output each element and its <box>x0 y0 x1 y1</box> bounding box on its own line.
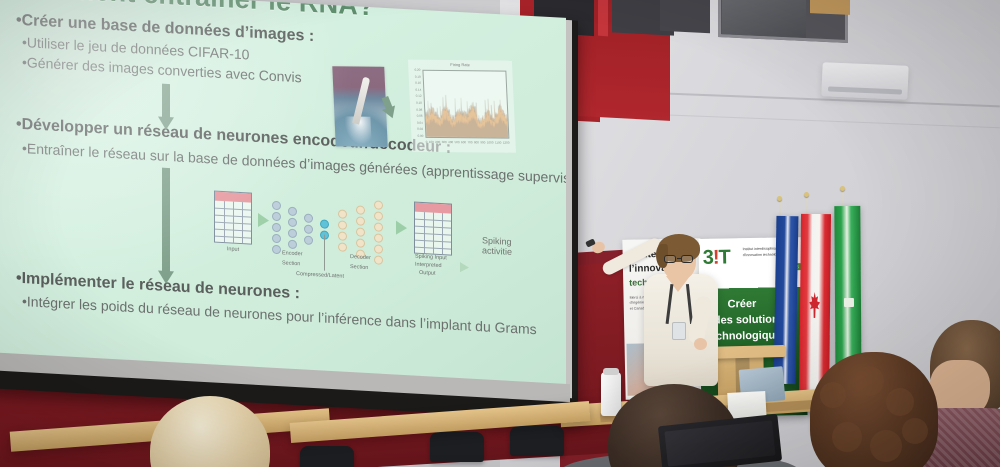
nn-node <box>356 216 365 225</box>
output-table-icon <box>414 202 452 256</box>
x-tick: 500 <box>454 140 459 148</box>
nn-node <box>272 233 281 242</box>
arrow-to-spiking <box>460 262 469 272</box>
y-tick: 0.14 <box>415 88 421 92</box>
encoder-label: Encoder <box>282 250 303 257</box>
nn-node <box>374 244 383 253</box>
y-tick: 0.04 <box>417 121 423 125</box>
y-tick: 0.08 <box>416 107 422 111</box>
nn-node <box>374 211 383 220</box>
thermos-bottle <box>601 372 621 416</box>
encoder-label2: Section <box>282 260 300 267</box>
nn-node <box>338 242 347 251</box>
nn-node <box>338 209 347 218</box>
arrow-decoder-to-output <box>396 221 407 236</box>
x-tick: 400 <box>448 140 453 148</box>
neural-network-nodes <box>214 185 514 202</box>
x-tick: 600 <box>461 140 466 148</box>
nn-node <box>288 229 297 238</box>
chart-x-axis-ticks: 0100200300400500600700800900100011001200 <box>426 140 510 149</box>
x-tick: 200 <box>435 140 440 148</box>
nn-node <box>356 238 365 247</box>
x-tick: 1200 <box>503 141 510 149</box>
nn-node <box>288 218 297 227</box>
output-label3: Output <box>419 270 436 277</box>
nn-node <box>272 211 281 220</box>
chair <box>510 426 564 456</box>
window-wood-panel <box>810 0 850 15</box>
x-tick: 1000 <box>487 140 494 148</box>
y-tick: 0.00 <box>417 134 423 138</box>
presentation-slide: mment entrainer le RNA? •Créer une base … <box>0 0 566 386</box>
input-table-icon: Input <box>214 191 252 245</box>
latent-label: Compressed/Latent <box>296 271 344 280</box>
x-tick: 700 <box>467 140 472 148</box>
y-tick: 0.18 <box>415 74 421 78</box>
firing-rate-chart: Firing Rate 0.200.180.160.140.120.100.08… <box>408 60 516 153</box>
nn-node <box>374 222 383 231</box>
nn-node <box>356 205 365 214</box>
output-label: Spiking Input <box>415 254 447 262</box>
chair <box>300 446 354 467</box>
projection-screen: mment entrainer le RNA? •Créer une base … <box>0 0 578 421</box>
nn-node <box>288 240 297 249</box>
y-tick: 0.10 <box>416 101 422 105</box>
nn-node <box>374 233 383 242</box>
nn-node <box>304 224 313 233</box>
nn-node <box>356 227 365 236</box>
presenter-badge <box>672 322 686 340</box>
output-label2: Interpreted <box>415 262 442 269</box>
chart-title: Firing Rate <box>408 62 512 68</box>
chart-plot-area <box>422 70 509 139</box>
x-tick: 100 <box>429 140 434 148</box>
nn-node <box>272 200 281 209</box>
green-flag-finial <box>840 186 845 191</box>
nn-node <box>272 244 281 253</box>
nn-node <box>320 219 329 228</box>
canada-flag-finial <box>804 192 809 197</box>
audience-curly-hair <box>810 352 938 467</box>
spiking-line2: activitie <box>482 246 512 258</box>
flow-arrow-down-2 <box>158 167 174 284</box>
x-tick: 800 <box>474 140 479 148</box>
nn-node <box>374 200 383 209</box>
rocket-launch-image <box>332 66 387 147</box>
y-tick: 0.20 <box>414 68 420 72</box>
presenter-lower-hand <box>694 338 707 350</box>
glasses-icon <box>664 255 694 263</box>
nn-node <box>288 207 297 216</box>
decoder-label: Decoder <box>350 254 371 261</box>
y-tick: 0.02 <box>417 127 423 131</box>
y-tick: 0.12 <box>416 94 422 98</box>
x-tick: 0 <box>426 140 428 148</box>
slide-bullet-3: •Générer des images converties avec Conv… <box>22 54 302 85</box>
presenter <box>636 240 732 390</box>
thermos-cap <box>603 368 619 375</box>
y-tick: 0.16 <box>415 81 421 85</box>
input-label: Input <box>205 245 261 254</box>
nn-node <box>338 220 347 229</box>
nn-node <box>304 213 313 222</box>
arrow-input-to-encoder <box>258 213 269 228</box>
nn-node <box>272 222 281 231</box>
chair <box>430 432 484 462</box>
quebec-flag-finial <box>777 196 782 201</box>
autoencoder-diagram: Input Encoder Section Compressed/Latent … <box>214 185 514 294</box>
ceiling-panel-b <box>660 0 710 33</box>
red-wall-fin <box>598 0 608 36</box>
green-flag-emblem <box>844 298 854 307</box>
window-glass <box>722 0 806 38</box>
x-tick: 900 <box>480 140 485 148</box>
decoder-label2: Section <box>350 264 368 271</box>
latent-pointer-line <box>324 235 325 271</box>
maple-leaf-icon <box>808 292 821 318</box>
nn-node <box>374 255 383 264</box>
nn-node <box>338 231 347 240</box>
x-tick: 300 <box>442 140 447 148</box>
spiking-activity-label: Spiking activitie <box>482 235 512 257</box>
x-tick: 1100 <box>495 141 502 149</box>
flow-arrow-down-1 <box>158 83 174 130</box>
nn-node <box>304 235 313 244</box>
y-tick: 0.06 <box>417 114 423 118</box>
quebec-flag <box>774 216 799 384</box>
lecture-room-photo: mment entrainer le RNA? •Créer une base … <box>0 0 1000 467</box>
